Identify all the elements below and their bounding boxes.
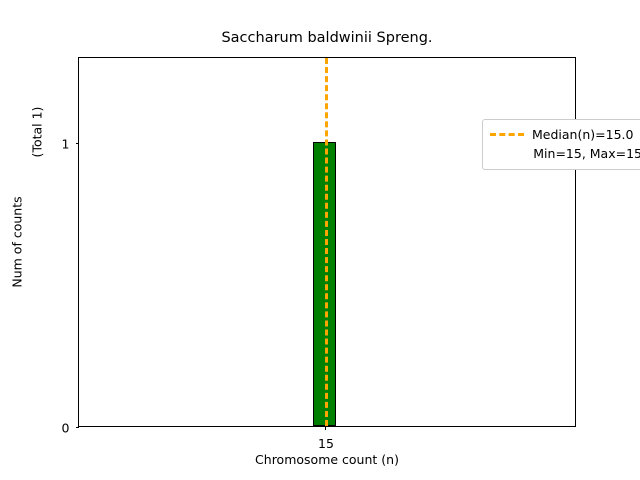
chart-figure: Saccharum baldwinii Spreng. 0 1 15 Media… xyxy=(0,0,640,480)
xtick-mark-15: 15 xyxy=(325,426,326,430)
legend: Median(n)=15.0 Min=15, Max=15 xyxy=(482,119,640,170)
yaxis-total-wrap: (Total 1) xyxy=(24,57,50,207)
plot-area: 0 1 15 Median(n)=15.0 Min=15, Max=15 xyxy=(78,57,576,427)
ytick-mark-1: 1 xyxy=(76,143,80,144)
yaxis-total-label: (Total 1) xyxy=(30,107,45,158)
median-line xyxy=(325,58,328,426)
ytick-label-0: 0 xyxy=(62,421,70,436)
ytick-mark-0: 0 xyxy=(76,427,80,428)
xtick-label-15: 15 xyxy=(318,436,334,451)
page-title: Saccharum baldwinii Spreng. xyxy=(78,29,576,47)
yaxis-title: Num of counts xyxy=(10,196,25,287)
legend-item-minmax: Min=15, Max=15 xyxy=(490,144,640,163)
legend-item-median: Median(n)=15.0 xyxy=(490,125,640,144)
legend-label-minmax: Min=15, Max=15 xyxy=(533,146,640,161)
ytick-label-1: 1 xyxy=(62,137,70,152)
legend-dashed-line-icon xyxy=(490,133,524,136)
xaxis-title: Chromosome count (n) xyxy=(78,452,576,467)
legend-label-median: Median(n)=15.0 xyxy=(532,127,633,142)
